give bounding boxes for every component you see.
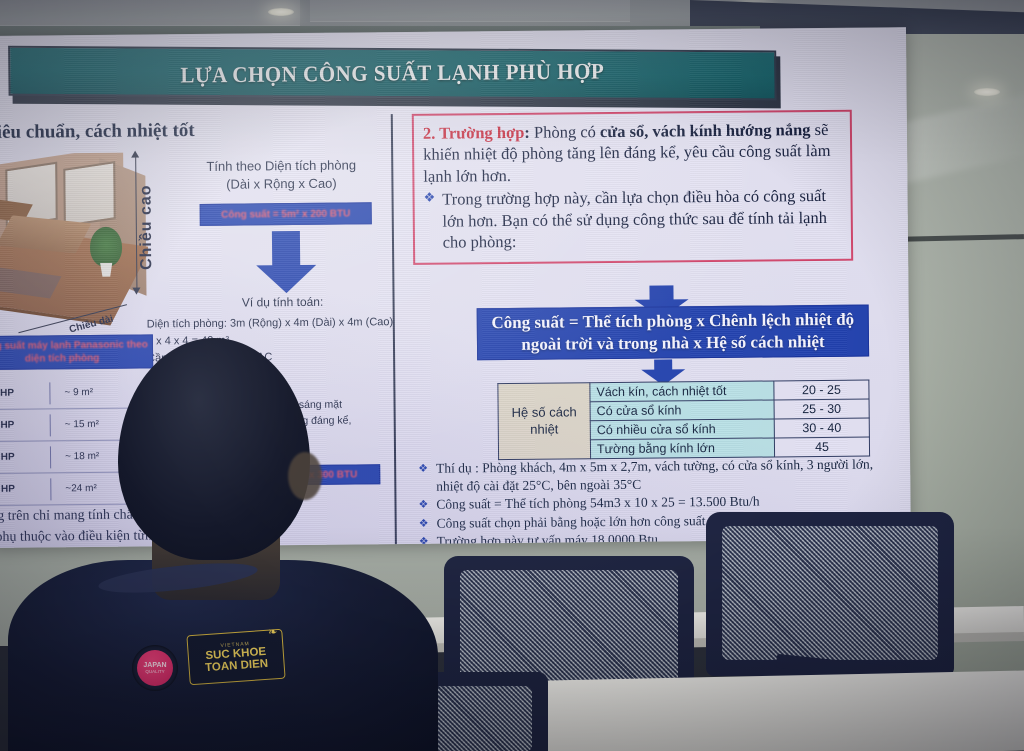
jacket-circular-patch: JAPAN QUALITY bbox=[132, 645, 178, 691]
patch-circle-line2: QUALITY bbox=[145, 669, 164, 674]
case-number: 2. Trường hợp bbox=[423, 123, 525, 143]
left-formula-bar-text: Công suất = 5m² x 200 BTU bbox=[221, 208, 350, 220]
case-bullet-text: Trong trường hợp này, cần lựa chọn điều … bbox=[442, 185, 842, 253]
area-method-line1: Tính theo Diện tích phòng bbox=[173, 156, 389, 176]
downlight-icon bbox=[268, 8, 294, 16]
diamond-bullet-icon: ❖ bbox=[418, 460, 428, 495]
case-text-a: Phòng có bbox=[530, 122, 600, 142]
table-cell-label: Có cửa sổ kính bbox=[590, 400, 774, 421]
diamond-bullet-icon: ❖ bbox=[419, 514, 429, 532]
insulation-coefficient-table: Hệ số cách nhiệt Vách kín, cách nhiệt tố… bbox=[497, 380, 870, 461]
calc-line: Diện tích phòng: 3m (Rộng) x 4m (Dài) x … bbox=[147, 314, 395, 333]
table-cell-value: 20 - 25 bbox=[774, 380, 869, 400]
person-ear bbox=[288, 452, 322, 500]
area-method-title: Tính theo Diện tích phòng (Dài x Rộng x … bbox=[173, 156, 389, 193]
hp-value: 2,5 HP bbox=[0, 483, 50, 495]
chair-mesh-back bbox=[722, 526, 938, 660]
hp-table-banner-text: Công suất máy lạnh Panasonic theo diện t… bbox=[0, 338, 152, 366]
table-cell-label: Có nhiều cửa sổ kính bbox=[590, 419, 774, 440]
hp-value: 1,5 HP bbox=[0, 419, 50, 431]
case-bold-a: cửa sổ, vách kính hướng nắng bbox=[600, 120, 811, 141]
conference-room-photo: LỰA CHỌN CÔNG SUẤT LẠNH PHÙ HỢP , tiêu c… bbox=[0, 0, 1024, 751]
slide-title-bar: LỰA CHỌN CÔNG SUẤT LẠNH PHÙ HỢP bbox=[8, 46, 777, 101]
power-formula-box: Công suất = Thể tích phòng x Chênh lệch … bbox=[477, 305, 869, 361]
hp-table-banner: Công suất máy lạnh Panasonic theo diện t… bbox=[0, 334, 153, 370]
table-row-header: Hệ số cách nhiệt bbox=[498, 383, 591, 460]
jacket-rect-patch: ❧ VIETNAM SUC KHOE TOAN DIEN bbox=[186, 629, 285, 686]
downlight-icon bbox=[974, 88, 1000, 96]
chair-mesh-back bbox=[460, 570, 678, 686]
leaf-icon: ❧ bbox=[268, 625, 278, 639]
area-method-line2: (Dài x Rộng x Cao) bbox=[173, 174, 389, 194]
diamond-bullet-icon: ❖ bbox=[423, 189, 435, 253]
office-chair bbox=[706, 512, 954, 676]
room-plant-icon bbox=[90, 227, 122, 267]
ceiling-tile bbox=[310, 0, 630, 22]
table-cell-value: 30 - 40 bbox=[774, 418, 869, 438]
table-cell-label: Vách kín, cách nhiệt tốt bbox=[590, 381, 774, 402]
slide-title-text: LỰA CHỌN CÔNG SUẤT LẠNH PHÙ HỢP bbox=[180, 58, 604, 89]
down-arrow-icon bbox=[256, 231, 317, 294]
power-formula-text: Công suất = Thể tích phòng x Chênh lệch … bbox=[478, 309, 868, 356]
diamond-bullet-icon: ❖ bbox=[418, 496, 428, 514]
case-callout-box: 2. Trường hợp: Phòng có cửa sổ, vách kín… bbox=[412, 110, 853, 265]
height-dimension-label: Chiều cao bbox=[137, 184, 156, 270]
room-window-icon bbox=[63, 161, 115, 227]
ceiling-tile bbox=[0, 0, 300, 26]
isometric-room-illustration bbox=[0, 152, 149, 336]
list-item-text: Thí dụ : Phòng khách, 4m x 5m x 2,7m, vá… bbox=[436, 455, 880, 494]
patch-inner: JAPAN QUALITY bbox=[137, 650, 173, 686]
table-cell-value: 45 bbox=[774, 437, 869, 457]
calc-example-title: Ví dụ tính toán: bbox=[175, 294, 391, 310]
hp-value: 2.0 HP bbox=[0, 451, 50, 463]
patch-circle-line1: JAPAN bbox=[143, 662, 166, 669]
left-heading: , tiêu chuẩn, cách nhiệt tốt bbox=[0, 118, 381, 144]
hp-value: 1.0 HP bbox=[0, 387, 49, 399]
table-cell-label: Tường bằng kính lớn bbox=[590, 438, 774, 459]
left-formula-bar: Công suất = 5m² x 200 BTU bbox=[200, 202, 372, 226]
case-paragraph: 2. Trường hợp: Phòng có cửa sổ, vách kín… bbox=[423, 119, 842, 187]
table-cell-value: 25 - 30 bbox=[774, 399, 869, 419]
list-item: ❖ Thí dụ : Phòng khách, 4m x 5m x 2,7m, … bbox=[418, 455, 880, 495]
case-bullet-row: ❖ Trong trường hợp này, cần lựa chọn điề… bbox=[423, 185, 842, 253]
